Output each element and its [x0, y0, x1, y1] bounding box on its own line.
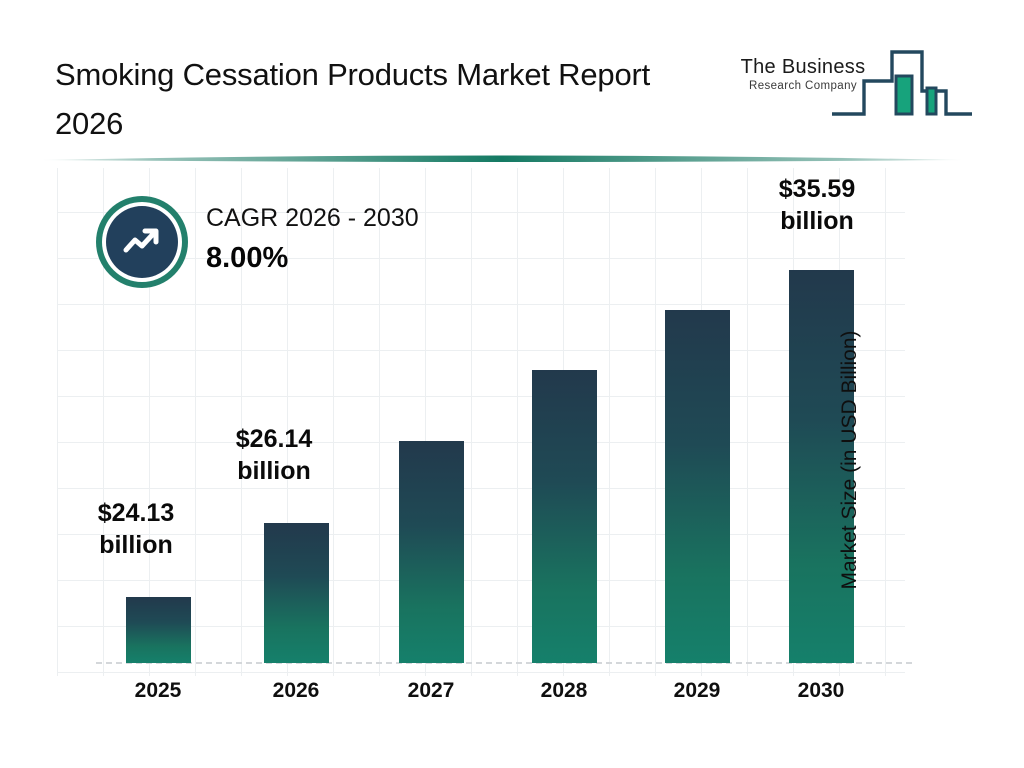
- bar-value-label-2026: $26.14billion: [199, 423, 349, 487]
- bar-value-amount: $24.13: [61, 497, 211, 529]
- bar-chart: $24.13billion2025$26.14billion2026202720…: [0, 160, 1024, 768]
- cagr-callout: CAGR 2026 - 2030 8.00%: [96, 196, 516, 306]
- cagr-badge-circle: [96, 196, 188, 288]
- bar-value-unit: billion: [61, 529, 211, 561]
- page-header: Smoking Cessation Products Market Report…: [0, 0, 1024, 160]
- y-axis-title: Market Size (in USD Billion): [838, 300, 862, 620]
- bar-2027: [399, 441, 464, 663]
- bar-2025: [126, 597, 191, 663]
- bar-value-amount: $26.14: [199, 423, 349, 455]
- x-axis-label-2025: 2025: [98, 679, 218, 703]
- x-axis-label-2030: 2030: [761, 679, 881, 703]
- bar-value-unit: billion: [199, 455, 349, 487]
- x-axis-label-2026: 2026: [236, 679, 356, 703]
- x-axis-label-2029: 2029: [637, 679, 757, 703]
- trending-up-arrow-icon: [106, 206, 178, 278]
- bar-2026: [264, 523, 329, 663]
- cagr-text-block: CAGR 2026 - 2030 8.00%: [206, 201, 516, 278]
- bar-skyline-logo-icon: [830, 34, 974, 126]
- chart-page: Smoking Cessation Products Market Report…: [0, 0, 1024, 768]
- bar-value-label-2030: $35.59billion: [742, 173, 892, 237]
- bar-value-amount: $35.59: [742, 173, 892, 205]
- cagr-period-label: CAGR 2026 - 2030: [206, 201, 516, 235]
- bar-2029: [665, 310, 730, 663]
- x-axis-label-2028: 2028: [504, 679, 624, 703]
- cagr-badge-ring: [102, 202, 182, 282]
- page-title: Smoking Cessation Products Market Report…: [55, 50, 715, 148]
- bar-2028: [532, 370, 597, 663]
- cagr-value: 8.00%: [206, 238, 516, 278]
- x-axis-label-2027: 2027: [371, 679, 491, 703]
- bar-value-unit: billion: [742, 205, 892, 237]
- bar-value-label-2025: $24.13billion: [61, 497, 211, 561]
- company-logo: The Business Research Company: [722, 34, 974, 126]
